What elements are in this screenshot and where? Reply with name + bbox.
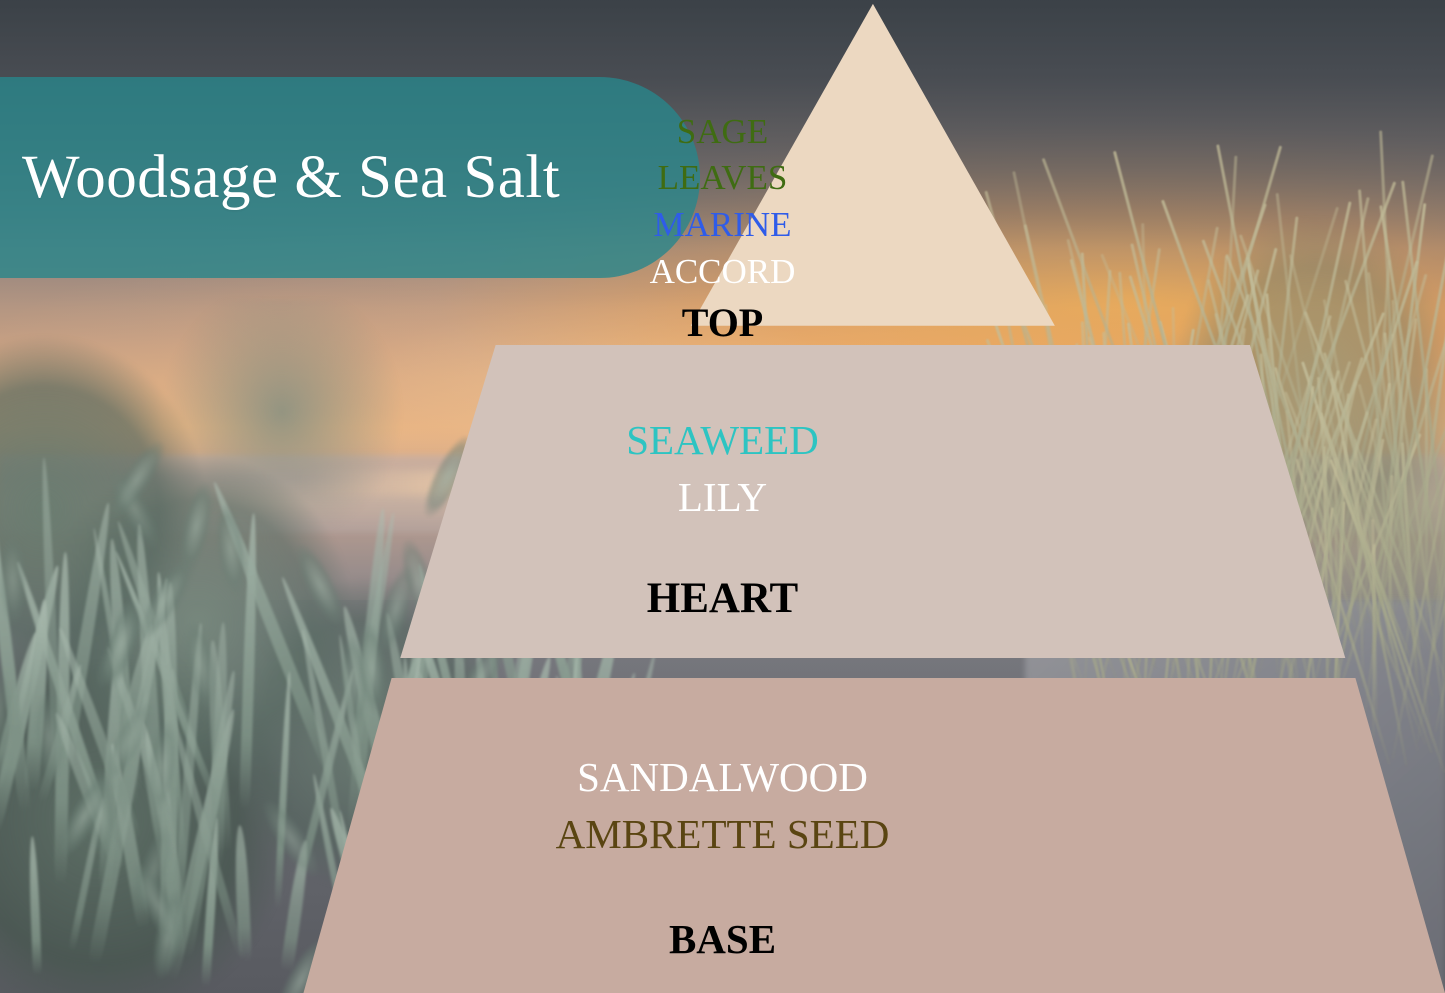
scent-pyramid: SAGE LEAVES MARINE ACCORD TOP SEAWEED LI… [0, 0, 1445, 993]
note-sage: SAGE [677, 114, 768, 149]
pyramid-tier-heart [0, 345, 1445, 658]
fragrance-pyramid-graphic: Woodsage & Sea Salt SAGE LEAVES MARINE A… [0, 0, 1445, 993]
pyramid-tier-base [0, 678, 1445, 993]
pyramid-tier-top [0, 0, 1445, 327]
